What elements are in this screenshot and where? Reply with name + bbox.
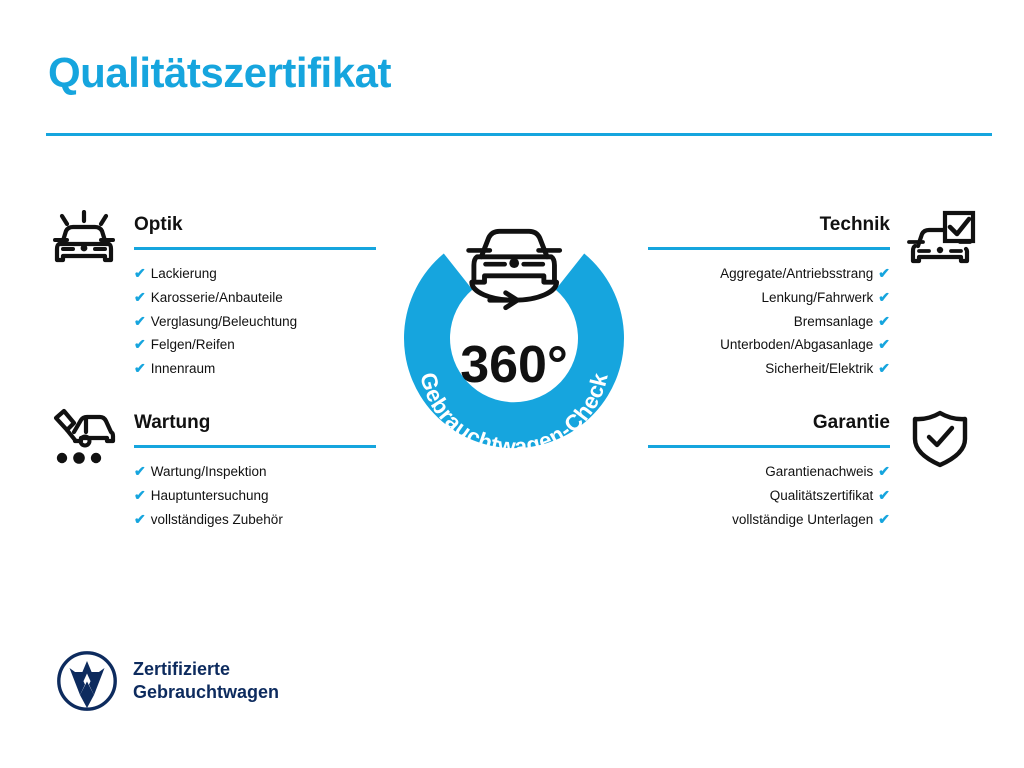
section-optik: Optik ✔Lackierung ✔Karosserie/Anbauteile…: [46, 210, 376, 381]
list-item-label: Karosserie/Anbauteile: [151, 290, 283, 305]
check-icon: ✔: [134, 463, 146, 479]
check-icon: ✔: [134, 487, 146, 503]
section-divider-wartung: [134, 445, 376, 448]
car-rotation-360-icon: [469, 231, 560, 307]
badge-360-check: Gebrauchtwagen-Check 360°: [370, 196, 658, 484]
list-item: Garantienachweis✔: [648, 460, 890, 484]
wrench-car-service-icon: [48, 408, 120, 470]
list-item-label: Garantienachweis: [765, 464, 873, 479]
header-divider: [46, 133, 992, 136]
check-icon: ✔: [878, 511, 890, 527]
list-item: ✔Verglasung/Beleuchtung: [134, 310, 376, 334]
list-item: Bremsanlage✔: [648, 310, 890, 334]
section-header-optik: Optik: [46, 210, 376, 262]
center-label: 360°: [460, 336, 568, 394]
check-icon: ✔: [878, 463, 890, 479]
check-icon: ✔: [878, 360, 890, 376]
checklist-garantie: Garantienachweis✔ Qualitätszertifikat✔ v…: [648, 460, 978, 531]
list-item: ✔Innenraum: [134, 357, 376, 381]
list-item-label: Aggregate/Antriebsstrang: [720, 266, 873, 281]
list-item-label: Sicherheit/Elektrik: [765, 361, 873, 376]
checklist-wartung: ✔Wartung/Inspektion ✔Hauptuntersuchung ✔…: [46, 460, 376, 531]
list-item-label: vollständige Unterlagen: [732, 512, 873, 527]
list-item: vollständige Unterlagen✔: [648, 508, 890, 532]
section-header-technik: Technik: [648, 210, 978, 262]
list-item-label: Lackierung: [151, 266, 217, 281]
section-garantie: Garantie Garantienachweis✔ Qualitätszert…: [648, 408, 978, 531]
list-item: Unterboden/Abgasanlage✔: [648, 333, 890, 357]
footer-logo: Zertifizierte Gebrauchtwagen: [56, 650, 279, 712]
check-icon: ✔: [134, 360, 146, 376]
list-item: ✔vollständiges Zubehör: [134, 508, 376, 532]
list-item: Sicherheit/Elektrik✔: [648, 357, 890, 381]
page-title: Qualitätszertifikat: [48, 50, 391, 96]
checklist-optik: ✔Lackierung ✔Karosserie/Anbauteile ✔Verg…: [46, 262, 376, 381]
footer-text: Zertifizierte Gebrauchtwagen: [133, 658, 279, 704]
car-shine-icon: [48, 210, 120, 272]
list-item-label: Innenraum: [151, 361, 216, 376]
list-item-label: Unterboden/Abgasanlage: [720, 337, 873, 352]
list-item-label: Hauptuntersuchung: [151, 488, 269, 503]
list-item: Lenkung/Fahrwerk✔: [648, 286, 890, 310]
section-wartung: Wartung ✔Wartung/Inspektion ✔Hauptunters…: [46, 408, 376, 531]
vw-logo-icon: [56, 650, 118, 712]
check-icon: ✔: [134, 511, 146, 527]
list-item: ✔Lackierung: [134, 262, 376, 286]
car-checkbox-icon: [904, 210, 976, 272]
section-divider-optik: [134, 247, 376, 250]
list-item: ✔Felgen/Reifen: [134, 333, 376, 357]
list-item-label: vollständiges Zubehör: [151, 512, 283, 527]
section-header-wartung: Wartung: [46, 408, 376, 460]
list-item-label: Lenkung/Fahrwerk: [761, 290, 873, 305]
list-item-label: Wartung/Inspektion: [151, 464, 267, 479]
list-item-label: Bremsanlage: [794, 314, 874, 329]
check-icon: ✔: [878, 265, 890, 281]
check-icon: ✔: [134, 313, 146, 329]
check-icon: ✔: [134, 289, 146, 305]
check-icon: ✔: [878, 289, 890, 305]
checklist-technik: Aggregate/Antriebsstrang✔ Lenkung/Fahrwe…: [648, 262, 978, 381]
list-item-label: Felgen/Reifen: [151, 337, 235, 352]
check-icon: ✔: [878, 487, 890, 503]
list-item-label: Verglasung/Beleuchtung: [151, 314, 297, 329]
check-icon: ✔: [134, 336, 146, 352]
list-item: ✔Karosserie/Anbauteile: [134, 286, 376, 310]
section-divider-garantie: [648, 445, 890, 448]
shield-check-icon: [904, 408, 976, 470]
check-icon: ✔: [878, 336, 890, 352]
check-icon: ✔: [878, 313, 890, 329]
list-item: ✔Hauptuntersuchung: [134, 484, 376, 508]
section-technik: Technik Aggregate/Antriebsstrang✔ Lenkun…: [648, 210, 978, 381]
list-item-label: Qualitätszertifikat: [770, 488, 874, 503]
list-item: ✔Wartung/Inspektion: [134, 460, 376, 484]
section-divider-technik: [648, 247, 890, 250]
list-item: Aggregate/Antriebsstrang✔: [648, 262, 890, 286]
list-item: Qualitätszertifikat✔: [648, 484, 890, 508]
check-icon: ✔: [134, 265, 146, 281]
certificate-page: Qualitätszertifikat: [0, 0, 1024, 768]
section-header-garantie: Garantie: [648, 408, 978, 460]
